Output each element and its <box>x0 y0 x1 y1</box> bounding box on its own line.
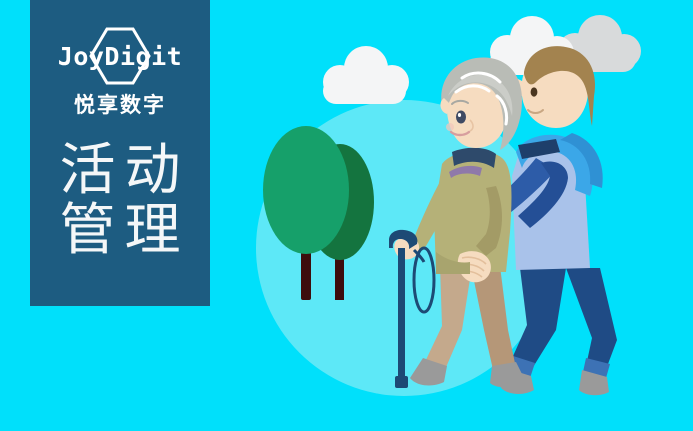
poster-canvas: JoyDigit 悦享数字 活动 管理 <box>0 0 693 431</box>
youth-eye <box>531 87 538 96</box>
page-title-line1: 活动 <box>51 141 190 201</box>
brand-logo-text: JoyDigit <box>58 44 182 69</box>
elder-cheek <box>446 123 454 131</box>
brand-logo: JoyDigit <box>45 32 195 80</box>
page-title-line2: 管理 <box>51 201 190 261</box>
brand-sub-text: 悦享数字 <box>74 89 166 119</box>
cane-tip <box>395 376 408 388</box>
youth-far-leg <box>566 268 617 372</box>
elder-eye <box>456 111 466 124</box>
elder-eye-glint <box>458 113 461 117</box>
page-title: 活动 管理 <box>51 141 190 262</box>
cane-shaft <box>398 248 405 384</box>
cloud-left <box>323 46 409 104</box>
title-panel: JoyDigit 悦享数字 活动 管理 <box>30 0 210 306</box>
